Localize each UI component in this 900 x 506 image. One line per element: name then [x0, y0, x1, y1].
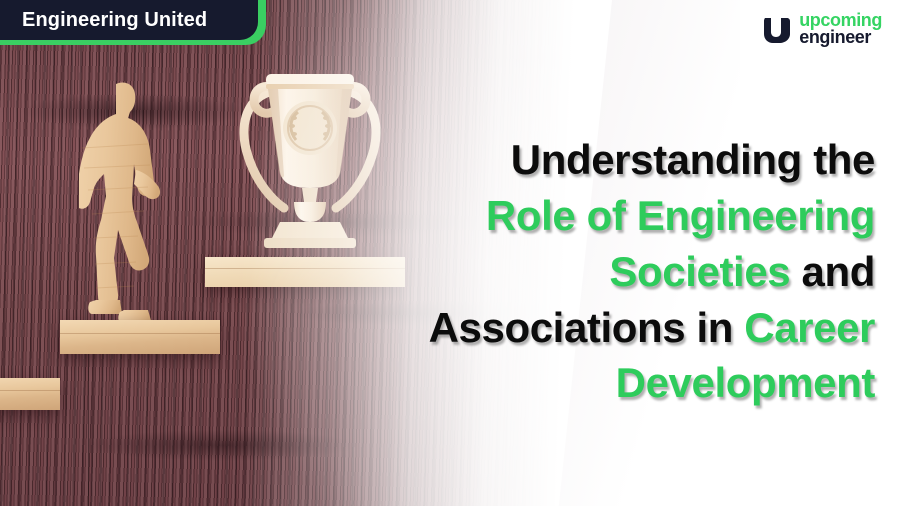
headline-segment-2-1: Role of Engineering: [486, 192, 875, 239]
headline-line-4: Associations in Career: [315, 300, 875, 356]
logo-line-engineer: engineer: [799, 29, 882, 46]
banner: Engineering United upcoming engineer Und…: [0, 0, 900, 506]
badge-label: Engineering United: [0, 9, 207, 32]
upcoming-engineer-logo[interactable]: upcoming engineer: [762, 12, 882, 47]
headline-segment-3-1: Societies: [609, 248, 801, 295]
headline-segment-4-1: Associations in: [429, 304, 745, 351]
headline-segment-5-1: Development: [616, 359, 875, 406]
headline-line-5: Development: [315, 355, 875, 411]
upcoming-engineer-u-mark-icon: [762, 14, 792, 44]
headline-segment-4-2: Career: [744, 304, 875, 351]
headline-segment-3-2: and: [802, 248, 875, 295]
headline-line-1: Understanding the: [315, 132, 875, 188]
logo-wordmark: upcoming engineer: [799, 12, 882, 47]
badge-navy-pill: Engineering United: [0, 0, 258, 40]
headline-line-3: Societies and: [315, 244, 875, 300]
page-title: Understanding theRole of EngineeringSoci…: [315, 132, 875, 411]
category-badge[interactable]: Engineering United: [0, 0, 300, 58]
headline-segment-1-1: Understanding the: [511, 136, 875, 183]
headline-line-2: Role of Engineering: [315, 188, 875, 244]
